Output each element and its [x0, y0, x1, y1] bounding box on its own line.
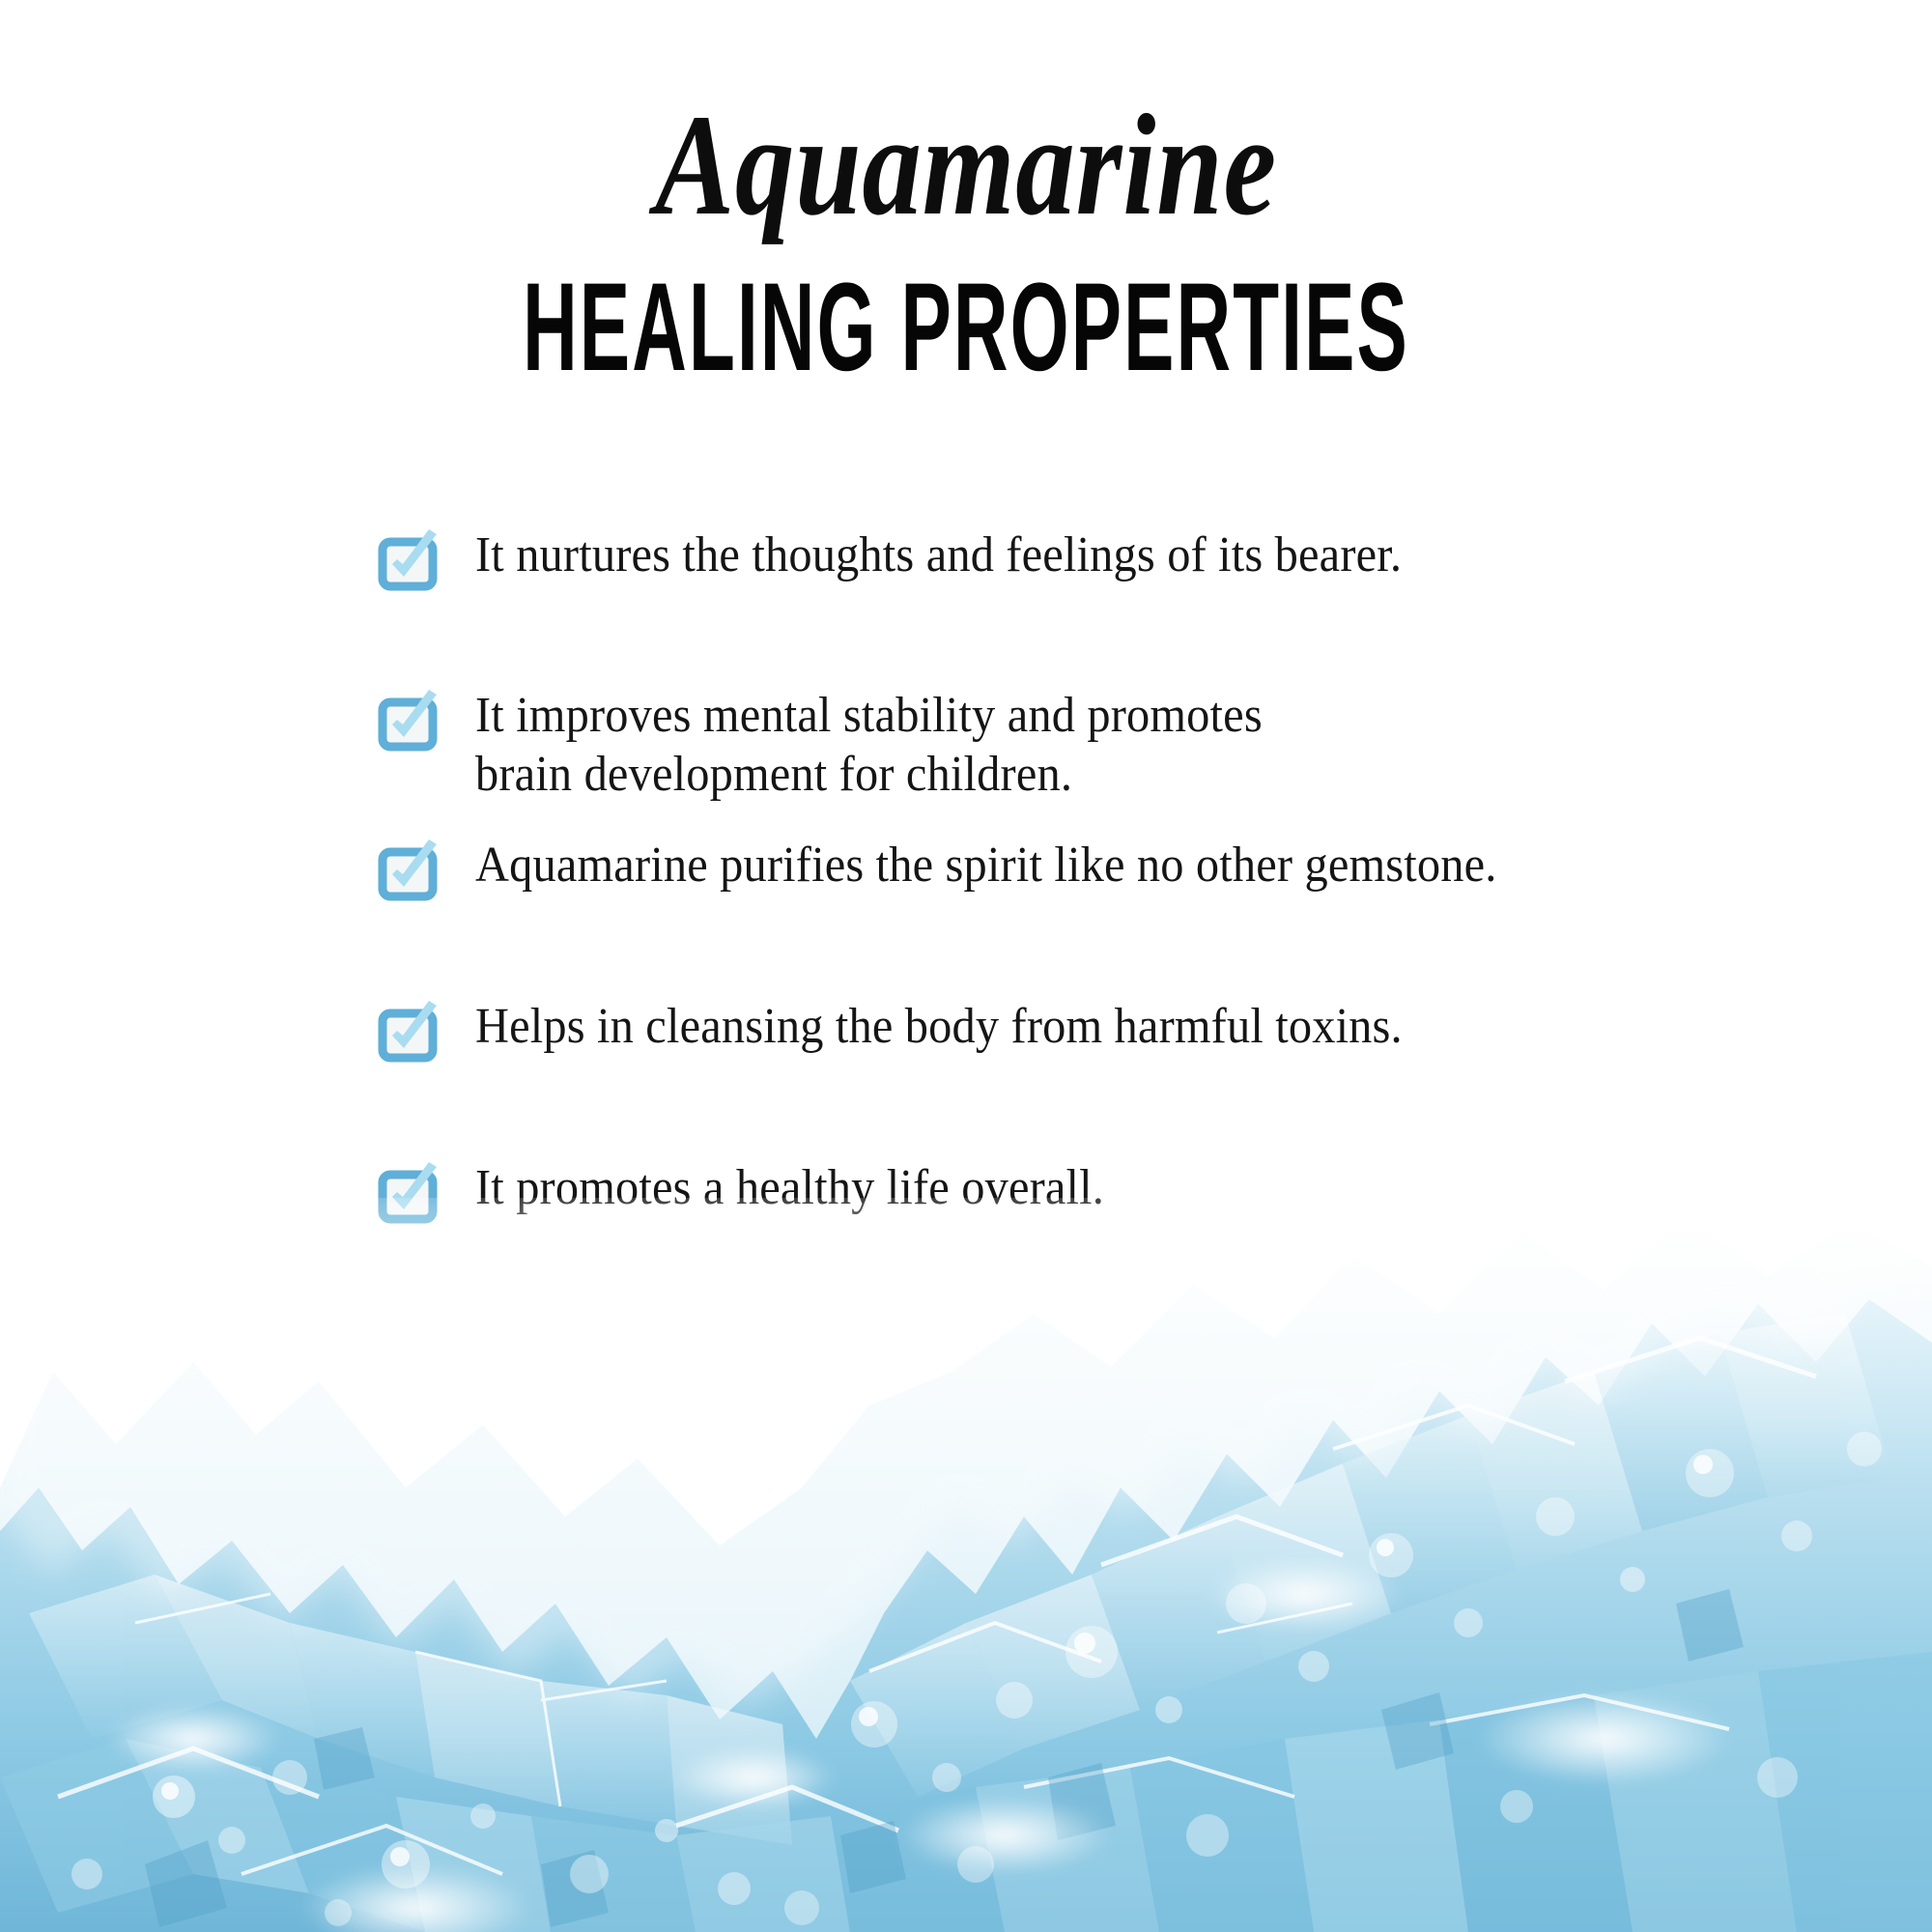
checked-checkbox-icon[interactable]	[379, 842, 440, 904]
checked-checkbox-icon[interactable]	[379, 1004, 440, 1065]
list-item-label: It improves mental stability and promote…	[475, 687, 1751, 805]
page-subtitle: HEALING PROPERTIES	[290, 265, 1642, 390]
checked-checkbox-icon[interactable]	[379, 532, 440, 594]
list-item-label: It nurtures the thoughts and feelings of…	[475, 526, 1751, 585]
ice-cubes-photo	[0, 1198, 1932, 1932]
list-item: It nurtures the thoughts and feelings of…	[379, 526, 1847, 594]
checked-checkbox-icon[interactable]	[379, 1165, 440, 1227]
list-item-label: Aquamarine purifies the spirit like no o…	[475, 837, 1751, 895]
checked-checkbox-icon[interactable]	[379, 693, 440, 754]
list-item: It improves mental stability and promote…	[379, 687, 1847, 805]
poster-header: Aquamarine HEALING PROPERTIES	[0, 93, 1932, 373]
healing-properties-list: It nurtures the thoughts and feelings of…	[379, 526, 1847, 1227]
poster-canvas: Aquamarine HEALING PROPERTIES It nurture…	[0, 0, 1932, 1932]
list-item: Helps in cleansing the body from harmful…	[379, 998, 1847, 1065]
page-title: Aquamarine	[174, 93, 1758, 238]
list-item-label: It promotes a healthy life overall.	[475, 1159, 1751, 1218]
list-item: It promotes a healthy life overall.	[379, 1159, 1847, 1227]
list-item: Aquamarine purifies the spirit like no o…	[379, 837, 1847, 904]
list-item-label: Helps in cleansing the body from harmful…	[475, 998, 1751, 1057]
